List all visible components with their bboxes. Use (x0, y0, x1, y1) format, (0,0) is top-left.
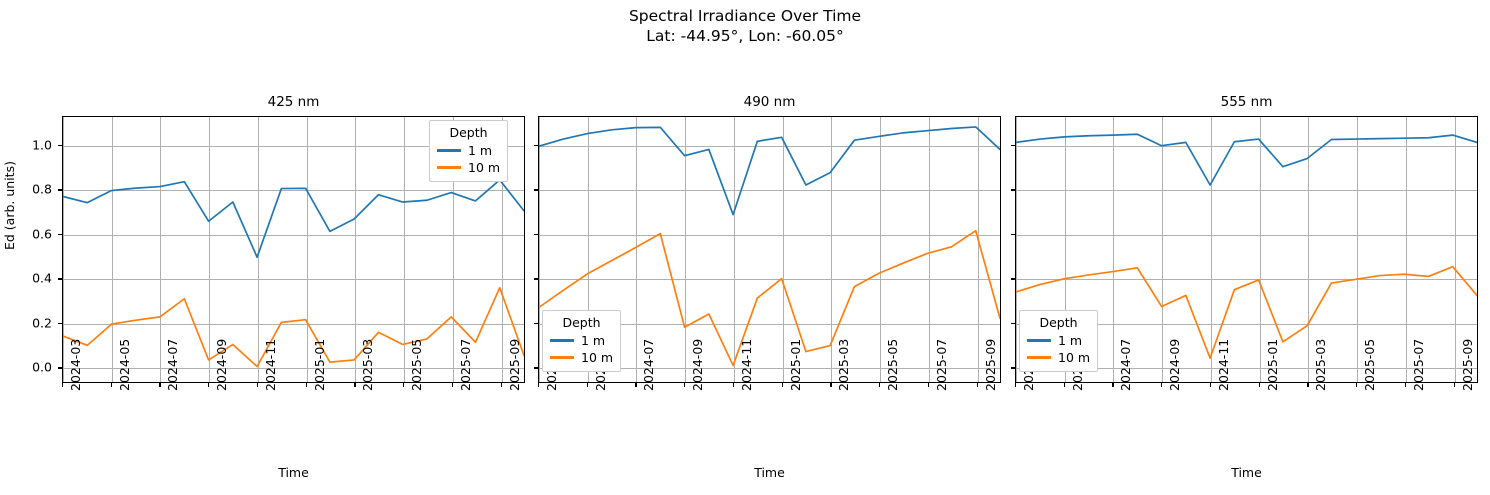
y-axis-title: Ed (arb. units) (2, 161, 17, 250)
x-tick-label: 2024-11 (739, 339, 754, 391)
legend-swatch-icon (550, 356, 574, 358)
subplot-title: 490 nm (538, 94, 1001, 110)
x-tick-label: 2024-09 (214, 339, 229, 391)
x-tick-label: 2025-05 (1362, 339, 1377, 391)
subplot-title: 425 nm (62, 94, 525, 110)
x-tick-mark (257, 383, 258, 387)
legend-entry-1-m[interactable]: 1 m (550, 332, 613, 349)
legend-swatch-icon (1027, 356, 1051, 358)
legend-label: 1 m (581, 333, 605, 349)
legend[interactable]: Depth1 m10 m (542, 310, 621, 372)
x-tick-mark (1161, 383, 1162, 387)
legend-swatch-icon (437, 149, 461, 151)
y-tick-mark (58, 189, 62, 190)
y-tick-mark (58, 234, 62, 235)
y-tick-mark (58, 323, 62, 324)
x-tick-label: 2024-07 (641, 339, 656, 391)
y-tick-label: 0.4 (32, 271, 52, 286)
x-tick-mark (684, 383, 685, 387)
y-tick-mark (58, 278, 62, 279)
x-tick-mark (1356, 383, 1357, 387)
legend-entry-10-m[interactable]: 10 m (1027, 349, 1090, 366)
line-series-1-m (63, 180, 524, 257)
y-tick-mark (1011, 323, 1015, 324)
y-tick-mark (58, 145, 62, 146)
x-tick-mark (111, 383, 112, 387)
y-tick-mark (1011, 189, 1015, 190)
x-tick-mark (1112, 383, 1113, 387)
x-tick-label: 2024-05 (117, 339, 132, 391)
line-series-1-m (539, 127, 1000, 215)
x-tick-mark (354, 383, 355, 387)
x-tick-label: 2024-07 (1118, 339, 1133, 391)
x-tick-label: 2024-03 (68, 339, 83, 391)
x-tick-mark (1015, 383, 1016, 387)
y-tick-mark (58, 367, 62, 368)
legend-entry-10-m[interactable]: 10 m (437, 159, 500, 176)
y-tick-mark (1011, 234, 1015, 235)
x-tick-label: 2025-05 (885, 339, 900, 391)
x-tick-mark (830, 383, 831, 387)
x-tick-mark (306, 383, 307, 387)
x-tick-label: 2025-03 (836, 339, 851, 391)
legend-entry-1-m[interactable]: 1 m (1027, 332, 1090, 349)
x-tick-mark (159, 383, 160, 387)
y-tick-label: 0.2 (32, 315, 52, 330)
x-tick-mark (208, 383, 209, 387)
y-tick-label: 1.0 (32, 137, 52, 152)
y-tick-mark (534, 234, 538, 235)
y-tick-label: 0.0 (32, 360, 52, 375)
x-axis-title: Time (62, 465, 525, 480)
y-tick-mark (534, 367, 538, 368)
x-tick-mark (879, 383, 880, 387)
x-tick-label: 2024-11 (1216, 339, 1231, 391)
x-tick-mark (1454, 383, 1455, 387)
legend-swatch-icon (1027, 339, 1051, 341)
x-tick-label: 2025-07 (934, 339, 949, 391)
y-tick-label: 0.6 (32, 226, 52, 241)
x-tick-label: 2025-01 (788, 339, 803, 391)
legend-title: Depth (1027, 315, 1090, 330)
legend-swatch-icon (550, 339, 574, 341)
x-tick-mark (403, 383, 404, 387)
x-tick-label: 2025-05 (409, 339, 424, 391)
legend-label: 1 m (468, 143, 492, 159)
suptitle-line-2: Lat: -44.95°, Lon: -60.05° (646, 27, 843, 45)
y-tick-mark (1011, 145, 1015, 146)
x-tick-label: 2025-09 (983, 339, 998, 391)
legend[interactable]: Depth1 m10 m (429, 120, 508, 182)
x-tick-label: 2024-07 (165, 339, 180, 391)
legend-entry-10-m[interactable]: 10 m (550, 349, 613, 366)
y-tick-mark (534, 323, 538, 324)
subplot-title: 555 nm (1015, 94, 1478, 110)
y-tick-mark (1011, 278, 1015, 279)
x-axis-title: Time (538, 465, 1001, 480)
legend-title: Depth (550, 315, 613, 330)
figure-suptitle: Spectral Irradiance Over TimeLat: -44.95… (0, 6, 1490, 46)
x-tick-mark (62, 383, 63, 387)
x-tick-label: 2025-03 (1313, 339, 1328, 391)
x-tick-mark (1064, 383, 1065, 387)
x-tick-mark (1259, 383, 1260, 387)
x-tick-mark (1307, 383, 1308, 387)
x-axis-title: Time (1015, 465, 1478, 480)
legend-label: 1 m (1058, 333, 1082, 349)
x-tick-label: 2024-11 (263, 339, 278, 391)
legend-entry-1-m[interactable]: 1 m (437, 142, 500, 159)
x-tick-label: 2025-07 (458, 339, 473, 391)
x-tick-label: 2024-09 (1167, 339, 1182, 391)
x-tick-mark (538, 383, 539, 387)
x-tick-label: 2025-03 (360, 339, 375, 391)
y-tick-mark (534, 145, 538, 146)
x-tick-mark (1210, 383, 1211, 387)
legend-label: 10 m (1058, 350, 1090, 366)
y-tick-mark (1011, 367, 1015, 368)
legend-swatch-icon (437, 166, 461, 168)
line-series-10-m (63, 288, 524, 367)
x-tick-mark (501, 383, 502, 387)
x-tick-mark (977, 383, 978, 387)
legend-label: 10 m (468, 160, 500, 176)
x-tick-mark (928, 383, 929, 387)
x-tick-label: 2025-01 (1265, 339, 1280, 391)
line-series-1-m (1016, 134, 1477, 185)
matplotlib-figure: Spectral Irradiance Over TimeLat: -44.95… (0, 0, 1490, 495)
suptitle-line-1: Spectral Irradiance Over Time (629, 7, 861, 25)
legend-title: Depth (437, 125, 500, 140)
x-tick-mark (782, 383, 783, 387)
x-tick-label: 2024-09 (690, 339, 705, 391)
x-tick-label: 2025-09 (1460, 339, 1475, 391)
legend-label: 10 m (581, 350, 613, 366)
x-tick-mark (1405, 383, 1406, 387)
x-tick-mark (733, 383, 734, 387)
x-tick-label: 2025-09 (507, 339, 522, 391)
y-tick-label: 0.8 (32, 182, 52, 197)
x-tick-mark (587, 383, 588, 387)
x-tick-mark (635, 383, 636, 387)
x-tick-label: 2025-01 (312, 339, 327, 391)
x-tick-mark (452, 383, 453, 387)
legend[interactable]: Depth1 m10 m (1019, 310, 1098, 372)
y-tick-mark (534, 189, 538, 190)
x-tick-label: 2025-07 (1411, 339, 1426, 391)
y-tick-mark (534, 278, 538, 279)
